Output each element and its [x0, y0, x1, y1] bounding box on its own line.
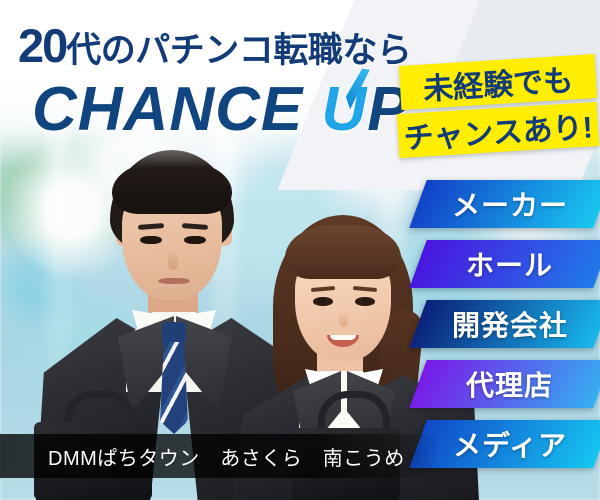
headline-tenshoku: 転職	[273, 31, 342, 70]
headline: 20代のパチンコ転職なら	[18, 18, 411, 73]
chance-up-logo: CHANCE U P	[32, 74, 410, 145]
credit-band: DMMぱちタウン あさくら 南こうめ	[0, 434, 440, 478]
category-button-agency[interactable]: 代理店	[409, 360, 600, 408]
category-label: ホール	[466, 244, 553, 284]
headline-pachinko: パチンコ	[135, 31, 273, 70]
badge-line-1-text: 未経験でも	[422, 55, 574, 108]
logo-chance: CHANCE	[32, 75, 303, 144]
banner-ad: 20代のパチンコ転職なら CHANCE U P 未経験でも チャンスあり! メー…	[0, 0, 600, 500]
category-button-hall[interactable]: ホール	[409, 240, 600, 288]
category-button-developer[interactable]: 開発会社	[409, 300, 600, 348]
logo-u-group: U	[321, 74, 367, 145]
category-label: メーカー	[452, 184, 568, 224]
credit-text: DMMぱちタウン あさくら 南こうめ	[0, 442, 405, 471]
headline-number: 20	[18, 19, 66, 72]
category-label: 代理店	[466, 364, 553, 404]
category-label: 開発会社	[452, 304, 568, 344]
category-label: メディア	[453, 424, 567, 464]
striped-necktie	[160, 342, 188, 434]
headline-dai-no: 代の	[66, 31, 135, 70]
headline-nara: なら	[342, 31, 411, 70]
category-button-maker[interactable]: メーカー	[409, 180, 600, 228]
